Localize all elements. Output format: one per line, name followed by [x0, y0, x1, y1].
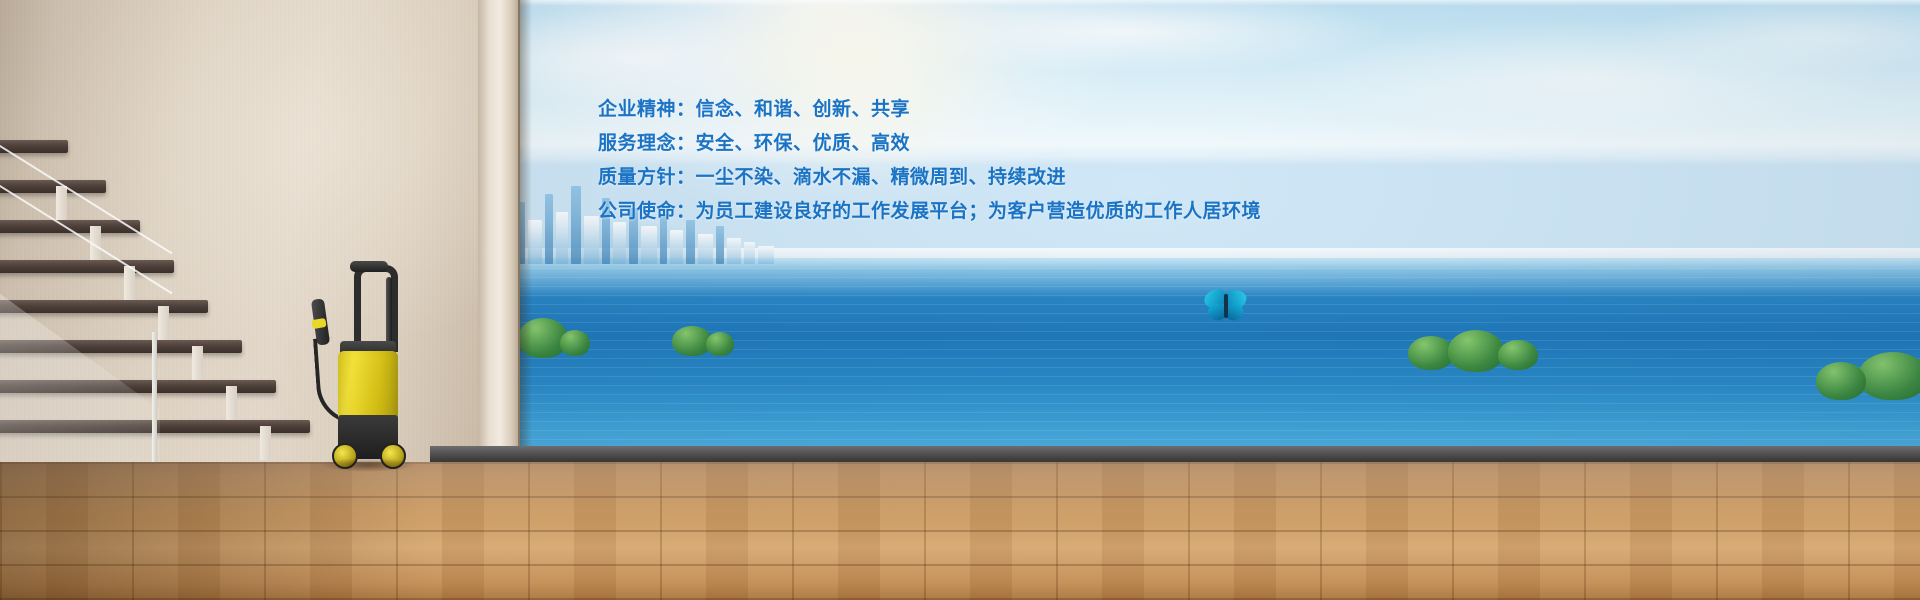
butterfly-icon	[1204, 288, 1248, 328]
company-philosophy-text: 企业精神：信念、和谐、创新、共享 服务理念：安全、环保、优质、高效 质量方针：一…	[598, 92, 1358, 228]
window-frame-top	[418, 0, 1920, 6]
pressure-washer	[310, 255, 420, 470]
washer-shadow	[320, 458, 416, 472]
philosophy-line-mission: 公司使命：为员工建设良好的工作发展平台；为客户营造优质的工作人居环境	[598, 194, 1358, 228]
philosophy-line-quality: 质量方针：一尘不染、滴水不漏、精微周到、持续改进	[598, 160, 1358, 194]
spray-lance	[386, 277, 392, 349]
glass-railing	[0, 255, 160, 470]
corner-shadow	[518, 0, 532, 470]
floor-shadow	[0, 462, 430, 600]
washer-grip	[350, 261, 388, 272]
wall-mural	[418, 0, 1920, 462]
philosophy-line-service: 服务理念：安全、环保、优质、高效	[598, 126, 1358, 160]
shore-trees	[418, 300, 1920, 360]
sea-ripples	[418, 268, 1920, 462]
banner-stage: 企业精神：信念、和谐、创新、共享 服务理念：安全、环保、优质、高效 质量方针：一…	[0, 0, 1920, 600]
wall-corner-post	[478, 0, 520, 472]
staircase	[0, 140, 210, 480]
philosophy-line-spirit: 企业精神：信念、和谐、创新、共享	[598, 92, 1358, 126]
